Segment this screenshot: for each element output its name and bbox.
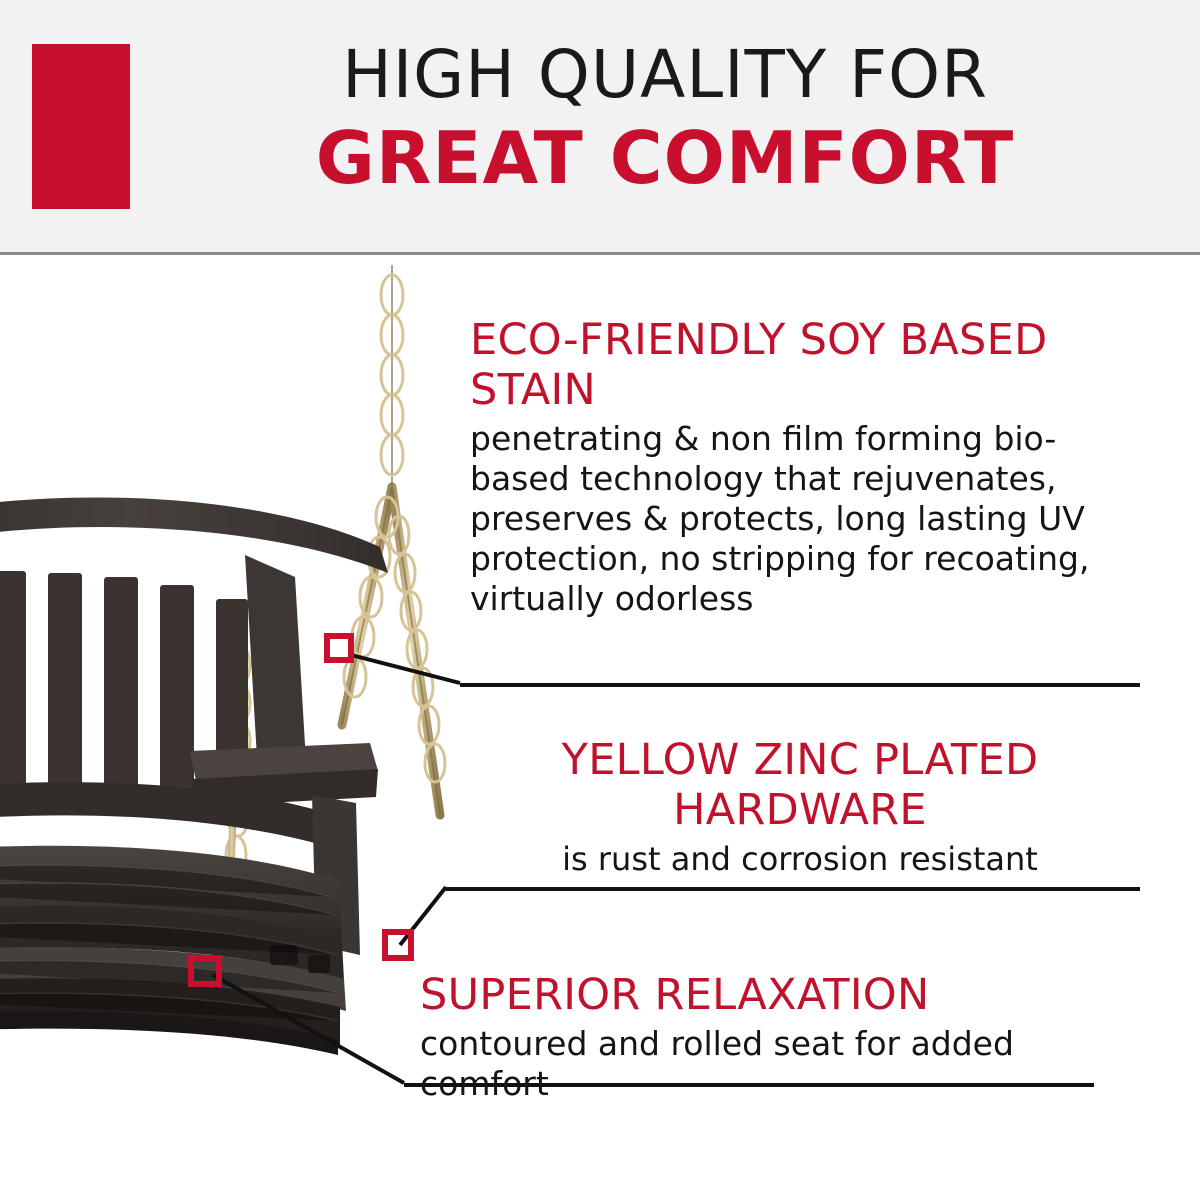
content-area: ECO-FRIENDLY SOY BASED STAIN penetrating… (0, 255, 1200, 1200)
infographic-page: HIGH QUALITY FOR GREAT COMFORT (0, 0, 1200, 1200)
callout-marker-stain (324, 633, 354, 663)
page-title-line-2: GREAT COMFORT (150, 116, 1180, 200)
page-title-line-1: HIGH QUALITY FOR (150, 34, 1180, 116)
feature-body: penetrating & non film forming bio-based… (470, 419, 1110, 619)
header-accent-block (32, 44, 130, 209)
feature-eco-friendly-soy-based-stain: ECO-FRIENDLY SOY BASED STAIN penetrating… (470, 315, 1110, 619)
feature-body: is rust and corrosion resistant (470, 839, 1130, 879)
callout-rule-hardware (446, 887, 1140, 891)
header-banner: HIGH QUALITY FOR GREAT COMFORT (0, 0, 1200, 255)
callout-rule-stain (460, 683, 1140, 687)
feature-heading: YELLOW ZINC PLATED HARDWARE (470, 735, 1130, 835)
feature-heading: SUPERIOR RELAXATION (420, 970, 1100, 1020)
feature-heading: ECO-FRIENDLY SOY BASED STAIN (470, 315, 1110, 415)
feature-superior-relaxation: SUPERIOR RELAXATION contoured and rolled… (420, 970, 1100, 1104)
callout-marker-seat (188, 955, 222, 987)
callout-marker-hardware (382, 929, 414, 961)
feature-yellow-zinc-plated-hardware: YELLOW ZINC PLATED HARDWARE is rust and … (470, 735, 1130, 879)
feature-body: contoured and rolled seat for added comf… (420, 1024, 1100, 1104)
header-title-group: HIGH QUALITY FOR GREAT COMFORT (150, 34, 1180, 200)
